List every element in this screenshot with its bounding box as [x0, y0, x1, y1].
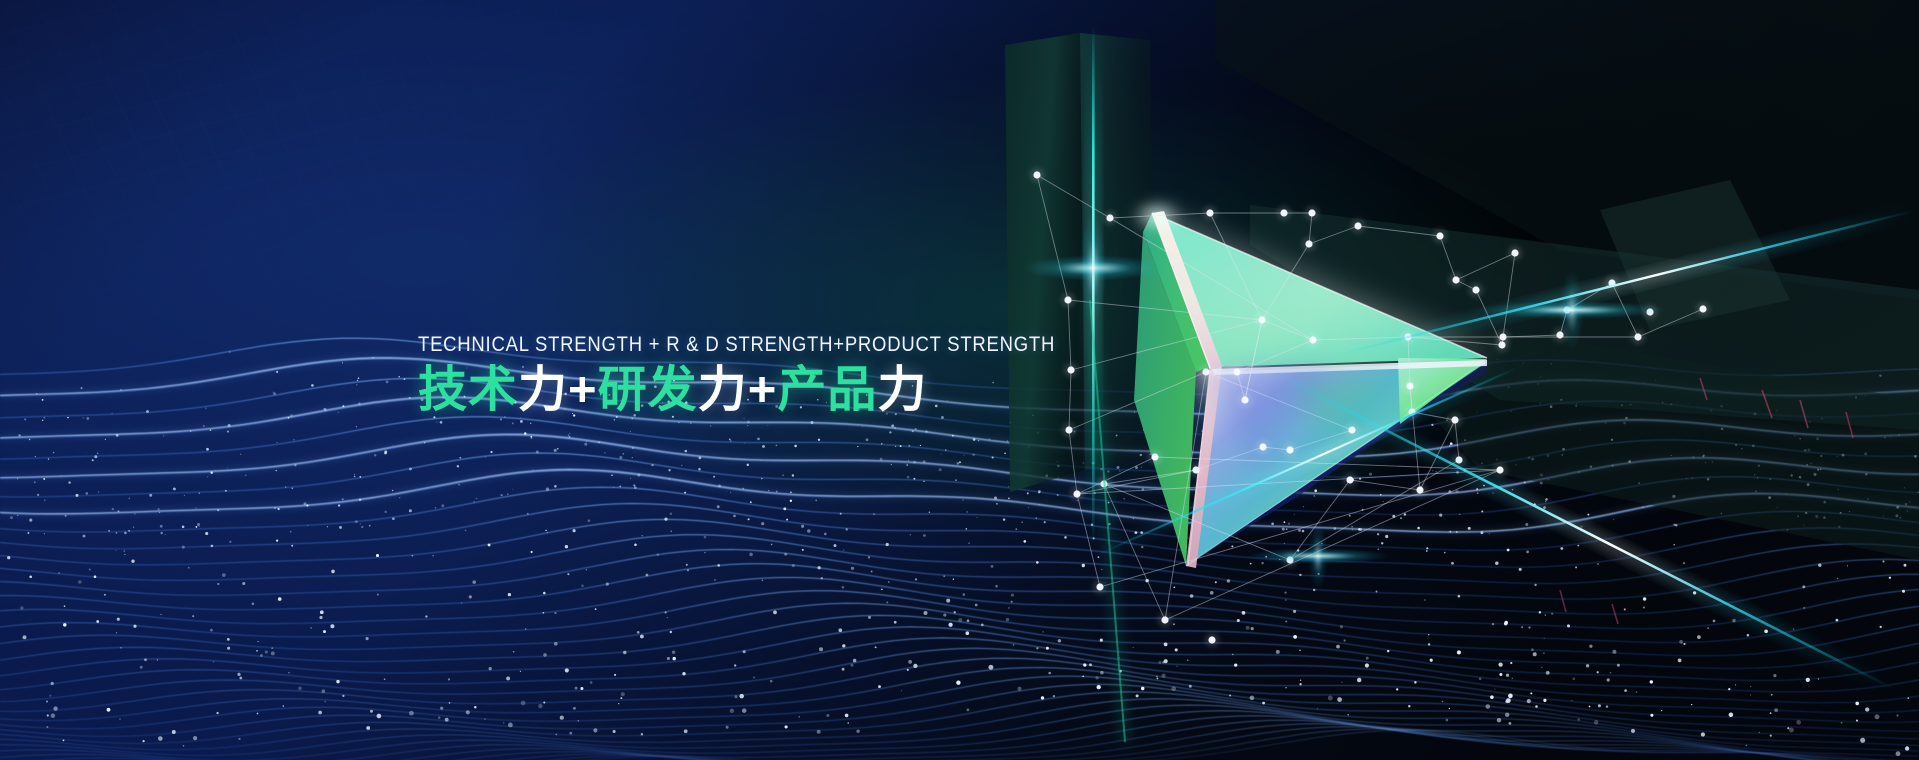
- hero-banner: TECHNICAL STRENGTH + R & D STRENGTH+PROD…: [0, 0, 1919, 760]
- dark-slab-shapes: [1005, 0, 1919, 560]
- slab-upper-right: [1215, 0, 1919, 300]
- network-node: [1233, 368, 1240, 375]
- network-node: [1436, 232, 1443, 239]
- network-node: [1064, 296, 1071, 303]
- network-node-glow: [1553, 328, 1568, 343]
- network-node: [1161, 616, 1168, 623]
- network-node-glow: [1238, 393, 1253, 408]
- network-node: [1496, 466, 1503, 473]
- beam-flare-left: [1023, 255, 1163, 281]
- network-node: [1208, 636, 1215, 643]
- network-node: [1280, 209, 1287, 216]
- network-node: [1416, 486, 1423, 493]
- diagonal-beam-lower-left: [1096, 363, 1520, 559]
- network-node-glow: [1605, 276, 1620, 291]
- network-node: [1406, 382, 1413, 389]
- network-node-glow: [1449, 273, 1464, 288]
- slab-facet: [1600, 180, 1790, 330]
- headline-seg-2: +: [568, 363, 598, 417]
- network-node: [1286, 556, 1293, 563]
- network-node-glow: [1403, 379, 1418, 394]
- network-node: [1498, 341, 1505, 348]
- network-node-glow: [1343, 473, 1358, 488]
- network-node-glow: [1302, 237, 1317, 252]
- network-node-glow: [1255, 313, 1270, 328]
- network-node-glow: [1351, 219, 1366, 234]
- headline-seg-5: +: [748, 363, 778, 417]
- network-node-glow: [1496, 330, 1511, 345]
- network-node: [1646, 308, 1653, 315]
- network-node-glow: [1199, 365, 1214, 380]
- headline-seg-4: 力: [698, 363, 748, 417]
- network-node-glow: [1631, 330, 1646, 345]
- network-node: [1151, 453, 1158, 460]
- headline-seg-0: 技术: [418, 363, 518, 417]
- chromatic-ticks: [1560, 378, 1853, 624]
- arrow-face-tip: [1398, 358, 1487, 424]
- network-node: [1073, 490, 1080, 497]
- network-node-glow: [1508, 246, 1523, 261]
- arrow-ridge-upper: [1152, 211, 1222, 370]
- network-node: [1346, 476, 1353, 483]
- network-node: [1259, 443, 1266, 450]
- network-node: [1202, 368, 1209, 375]
- network-node: [1065, 426, 1072, 433]
- network-node-glow: [1469, 283, 1484, 298]
- color-blobs: [1178, 333, 1385, 485]
- diagonal-beam-upper-right: [1338, 206, 1913, 359]
- diagonal-beam-lower-right: [1268, 367, 1897, 695]
- network-node-glow: [1696, 302, 1711, 317]
- headline-seg-3: 研发: [598, 363, 698, 417]
- network-node-glow: [1277, 206, 1292, 221]
- slab-band-lower-right: [1330, 300, 1919, 560]
- network-node-glow: [1560, 303, 1575, 318]
- network-node-glow: [1030, 168, 1045, 183]
- network-node: [1309, 336, 1316, 343]
- arrow-ridge-horizontal: [1212, 360, 1487, 375]
- network-node-glow: [1452, 453, 1467, 468]
- network-node: [1258, 316, 1265, 323]
- network-node: [1472, 286, 1479, 293]
- network-node-glow: [1433, 229, 1448, 244]
- arrow-cast-shadow-2: [1195, 362, 1487, 560]
- network-node-glow: [1093, 580, 1108, 595]
- network-node: [1608, 279, 1615, 286]
- network-node-glow: [1448, 413, 1463, 428]
- headline-block: TECHNICAL STRENGTH + R & D STRENGTH+PROD…: [418, 334, 1159, 416]
- arrow-ridge-lower: [1186, 366, 1222, 568]
- headline-seg-1: 力: [518, 363, 568, 417]
- network-node-glow: [1070, 487, 1085, 502]
- network-node-glow: [1062, 423, 1077, 438]
- network-node: [1286, 446, 1293, 453]
- slab-band-right: [1250, 205, 1919, 430]
- network-node-glow: [1148, 450, 1163, 465]
- network-node: [1305, 240, 1312, 247]
- network-node-glow: [1256, 440, 1271, 455]
- network-node-glow: [1103, 211, 1118, 226]
- network-node: [1452, 276, 1459, 283]
- network-node: [1404, 333, 1411, 340]
- arrow-body: [1131, 200, 1495, 568]
- network-node: [1354, 222, 1361, 229]
- network-node-glow: [1061, 293, 1076, 308]
- network-node-glow: [1345, 423, 1360, 438]
- network-node-glow: [1495, 338, 1510, 353]
- network-node: [1556, 331, 1563, 338]
- network-node: [1192, 466, 1199, 473]
- network-node: [1100, 480, 1107, 487]
- beam-flare-bottom: [1246, 548, 1390, 564]
- network-node: [1699, 305, 1706, 312]
- network-node-glow: [1158, 613, 1173, 628]
- network-node-glow: [1306, 333, 1321, 348]
- network-node: [1511, 249, 1518, 256]
- network-node-glow: [1230, 365, 1245, 380]
- network-node: [1455, 456, 1462, 463]
- network-node: [1206, 209, 1213, 216]
- network-node: [1106, 214, 1113, 221]
- vertical-cyan-beam: [1092, 25, 1095, 545]
- arrow-face-upper: [1152, 213, 1487, 367]
- network-node: [1408, 408, 1415, 415]
- network-node: [1033, 171, 1040, 178]
- network-node-glow: [1097, 477, 1112, 492]
- headline-chinese: 技术力+研发力+产品力: [418, 365, 1159, 417]
- arrow-face-lower: [1186, 362, 1487, 566]
- network-node: [1096, 583, 1103, 590]
- headline-seg-7: 力: [877, 363, 927, 417]
- network-node-glow: [1305, 206, 1320, 221]
- network-node-glow: [1413, 483, 1428, 498]
- network-node: [1499, 333, 1506, 340]
- network-node-glow: [1189, 463, 1204, 478]
- network-node-glow: [1205, 633, 1220, 648]
- network-node-glow: [1283, 553, 1298, 568]
- network-node: [1563, 306, 1570, 313]
- beam-flare-right: [1477, 301, 1667, 319]
- network-node-glow: [1203, 206, 1218, 221]
- headline-seg-6: 产品: [777, 363, 877, 417]
- network-node: [1348, 426, 1355, 433]
- network-node: [1308, 209, 1315, 216]
- network-node: [1241, 396, 1248, 403]
- network-node-glow: [1643, 305, 1658, 320]
- headline-eyebrow-english: TECHNICAL STRENGTH + R & D STRENGTH+PROD…: [418, 334, 1055, 356]
- arrow-cast-shadow: [1220, 360, 1487, 492]
- network-node: [1634, 333, 1641, 340]
- network-node-glow: [1401, 330, 1416, 345]
- slab-vertical: [1005, 33, 1085, 492]
- network-node: [1451, 416, 1458, 423]
- network-node-glow: [1283, 443, 1298, 458]
- network-node-glow: [1493, 463, 1508, 478]
- network-node-glow: [1405, 405, 1420, 420]
